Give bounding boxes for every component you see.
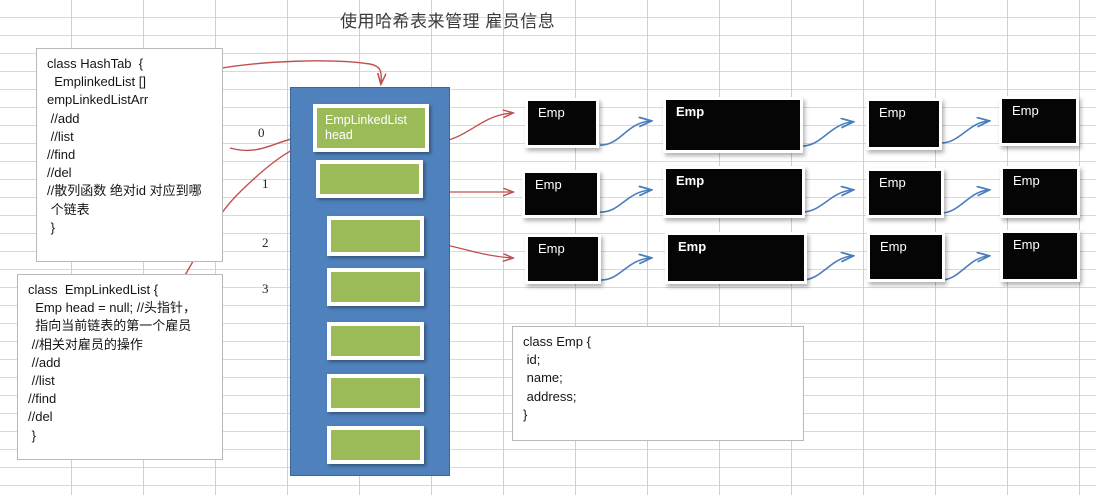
emp-node-r1c4[interactable]: Emp [999, 96, 1079, 146]
emp-node-r3c2[interactable]: Emp [665, 232, 807, 284]
array-slot-0[interactable]: EmpLinkedList head [313, 104, 429, 152]
diagram-canvas: 使用哈希表来管理 雇员信息 [0, 0, 1096, 495]
page-title: 使用哈希表来管理 雇员信息 [340, 7, 555, 32]
array-slot-1[interactable] [316, 160, 423, 198]
array-slot-6[interactable] [327, 426, 424, 464]
array-slot-2[interactable] [327, 216, 424, 256]
emp-node-r2c4[interactable]: Emp [1000, 166, 1080, 218]
array-slot-4[interactable] [327, 322, 424, 360]
emp-node-r3c3[interactable]: Emp [867, 232, 945, 282]
emp-node-r1c3[interactable]: Emp [866, 98, 942, 150]
array-index-2: 2 [262, 235, 269, 251]
note-class-emplinkedlist: class EmpLinkedList { Emp head = null; /… [17, 274, 223, 460]
note-class-emp: class Emp { id; name; address; } [512, 326, 804, 441]
array-slot-5[interactable] [327, 374, 424, 412]
note-class-hashtab: class HashTab { EmplinkedList [] empLink… [36, 48, 223, 262]
emp-node-r1c1[interactable]: Emp [525, 98, 599, 148]
emp-node-r2c3[interactable]: Emp [866, 168, 944, 218]
emp-node-r3c4[interactable]: Emp [1000, 230, 1080, 282]
array-slot-3[interactable] [327, 268, 424, 306]
emp-node-r2c1[interactable]: Emp [522, 170, 600, 218]
emp-node-r2c2[interactable]: Emp [663, 166, 805, 218]
array-index-1: 1 [262, 176, 269, 192]
array-index-0: 0 [258, 125, 265, 141]
emp-node-r3c1[interactable]: Emp [525, 234, 601, 284]
array-index-3: 3 [262, 281, 269, 297]
hash-array-container: EmpLinkedList head [290, 87, 450, 476]
emp-node-r1c2[interactable]: Emp [663, 97, 803, 153]
